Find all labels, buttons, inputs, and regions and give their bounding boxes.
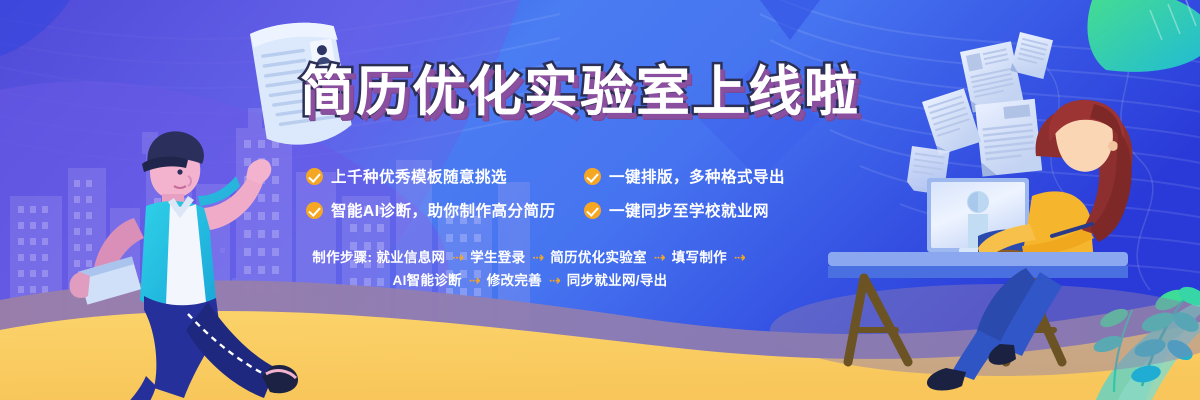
feature-item: 上千种优秀模板随意挑选 [306, 160, 576, 192]
steps-flow: 制作步骤: 就业信息网 学生登录 简历优化实验室 填写制作 AI智能诊断 修改完… [300, 246, 760, 292]
feature-item: 一键同步至学校就业网 [584, 194, 794, 226]
feature-label: 智能AI诊断，助你制作高分简历 [331, 199, 556, 221]
steps-prefix: 制作步骤: [312, 250, 372, 265]
feature-label: 一键同步至学校就业网 [609, 199, 769, 221]
arrow-right-dashed-icon [549, 274, 560, 288]
step-label: 学生登录 [470, 250, 525, 265]
arrow-right-dashed-icon [452, 251, 463, 265]
feature-label: 一键排版，多种格式导出 [609, 165, 785, 187]
steps-line-2: AI智能诊断 修改完善 同步就业网/导出 [300, 269, 760, 292]
step-label: 填写制作 [672, 250, 727, 265]
arrow-right-dashed-icon [532, 251, 543, 265]
check-circle-icon [306, 202, 323, 219]
step-label: 同步就业网/导出 [567, 273, 668, 288]
arrow-right-dashed-icon [469, 274, 480, 288]
step-label: 修改完善 [487, 273, 542, 288]
steps-line-1: 制作步骤: 就业信息网 学生登录 简历优化实验室 填写制作 [300, 246, 760, 269]
arrow-right-dashed-icon [734, 251, 745, 265]
check-circle-icon [584, 202, 601, 219]
step-label: 简历优化实验室 [550, 250, 647, 265]
step-label: 就业信息网 [376, 250, 445, 265]
check-circle-icon [584, 168, 601, 185]
feature-list: 上千种优秀模板随意挑选 一键排版，多种格式导出 智能AI诊断，助你制作高分简历 … [306, 160, 786, 226]
feature-label: 上千种优秀模板随意挑选 [331, 165, 507, 187]
feature-item: 智能AI诊断，助你制作高分简历 [306, 194, 576, 226]
check-circle-icon [306, 168, 323, 185]
step-label: AI智能诊断 [393, 273, 462, 288]
page-title: 简历优化实验室上线啦 [300, 62, 860, 122]
arrow-right-dashed-icon [654, 251, 665, 265]
feature-item: 一键排版，多种格式导出 [584, 160, 794, 192]
resume-lab-promo-banner: 简历优化实验室上线啦 上千种优秀模板随意挑选 一键排版，多种格式导出 智能AI诊… [0, 0, 1200, 400]
